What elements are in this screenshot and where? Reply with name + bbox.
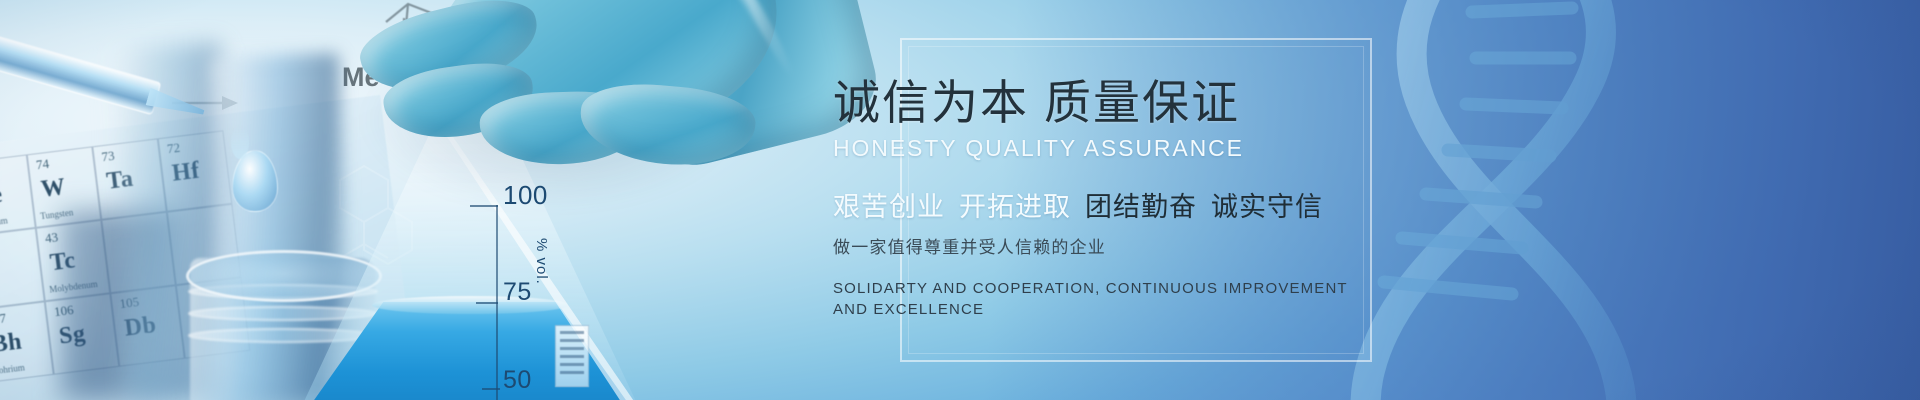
- banner-text-block: 诚信为本 质量保证 HONESTY QUALITY ASSURANCE 艰苦创业…: [833, 78, 1473, 320]
- slogan-tagline: 做一家值得尊重并受人信赖的企业: [833, 233, 1473, 258]
- english-body-line-2: AND EXCELLENCE: [833, 299, 1348, 320]
- headline-chinese: 诚信为本 质量保证: [833, 78, 1473, 129]
- slogan-part-2: 开拓进取: [959, 192, 1071, 222]
- english-body-line-1: SOLIDARTY AND COOPERATION, CONTINUOUS IM…: [833, 280, 1348, 297]
- slogan-part-4: 诚实守信: [1211, 192, 1323, 222]
- headline-english: HONESTY QUALITY ASSURANCE: [833, 135, 1473, 162]
- slogan-line: 艰苦创业开拓进取团结勤奋诚实守信: [833, 185, 1473, 224]
- hero-banner: 75 Re Rhenium 74 W Tungsten 73 Ta 72 Hf …: [0, 0, 1920, 400]
- slogan-part-3: 团结勤奋: [1085, 192, 1197, 222]
- english-body-text: SOLIDARTY AND COOPERATION, CONTINUOUS IM…: [833, 278, 1348, 321]
- slogan-part-1: 艰苦创业: [833, 192, 945, 222]
